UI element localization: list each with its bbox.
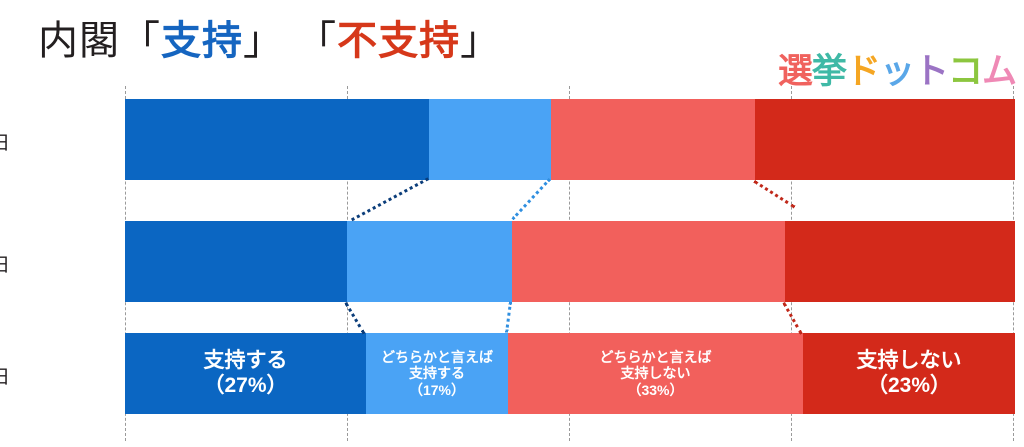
bar-segment-lean-support-row3[interactable]: どちらかと言えば 支持する （17%） [366, 333, 508, 414]
connector-lean-nosupport-2-3 [782, 302, 802, 334]
bar-segment-nosupport-row2[interactable] [785, 221, 1015, 302]
bar-segment-lean-nosupport-row3[interactable]: どちらかと言えば 支持しない （33%） [508, 333, 803, 414]
bar-segment-nosupport-row3[interactable]: 支持しない （23%） [803, 333, 1015, 414]
axis-label-row-3: 15-16日 [0, 362, 10, 389]
segment-pct-nosupport: （23%） [867, 374, 951, 399]
bar-segment-lean-support-row1[interactable] [429, 99, 551, 180]
segment-pct-lean-nosupport: （33%） [627, 382, 683, 399]
bar-segment-support-row2[interactable] [125, 221, 347, 302]
connector-lean-nosupport-1-2 [753, 180, 795, 209]
connector-lean-support-2-3 [505, 302, 512, 333]
bar-segment-lean-nosupport-row1[interactable] [551, 99, 755, 180]
bar-segment-nosupport-row1[interactable] [755, 99, 1015, 180]
bar-row-1 [125, 99, 1015, 180]
segment-label-support: 支持する [204, 349, 288, 374]
axis-label-row-2: 8日 [0, 250, 10, 277]
bar-row-2 [125, 221, 1015, 302]
bar-segment-lean-nosupport-row2[interactable] [512, 221, 785, 302]
bar-segment-lean-support-row2[interactable] [347, 221, 512, 302]
segment-pct-lean-support: （17%） [409, 382, 465, 399]
segment-label-lean-nosupport-line1: どちらかと言えば [600, 349, 712, 366]
axis-label-row-1: 1日 [0, 128, 10, 155]
connector-support-1-2 [351, 177, 429, 221]
segment-label-nosupport: 支持しない [857, 349, 962, 374]
bar-segment-support-row3[interactable]: 支持する （27%） [125, 333, 366, 414]
stacked-bar-chart: 1日 8日 15-16日 支持する （27%） どちらかと言えば 支持する （1… [0, 0, 1024, 447]
bar-row-3: 支持する （27%） どちらかと言えば 支持する （17%） どちらかと言えば … [125, 333, 1015, 414]
bar-segment-support-row1[interactable] [125, 99, 429, 180]
segment-label-lean-support-line2: 支持する [409, 365, 465, 382]
segment-label-lean-support-line1: どちらかと言えば [381, 349, 493, 366]
segment-pct-support: （27%） [203, 374, 287, 399]
segment-label-lean-nosupport-line2: 支持しない [621, 365, 691, 382]
connector-lean-support-1-2 [512, 178, 551, 220]
